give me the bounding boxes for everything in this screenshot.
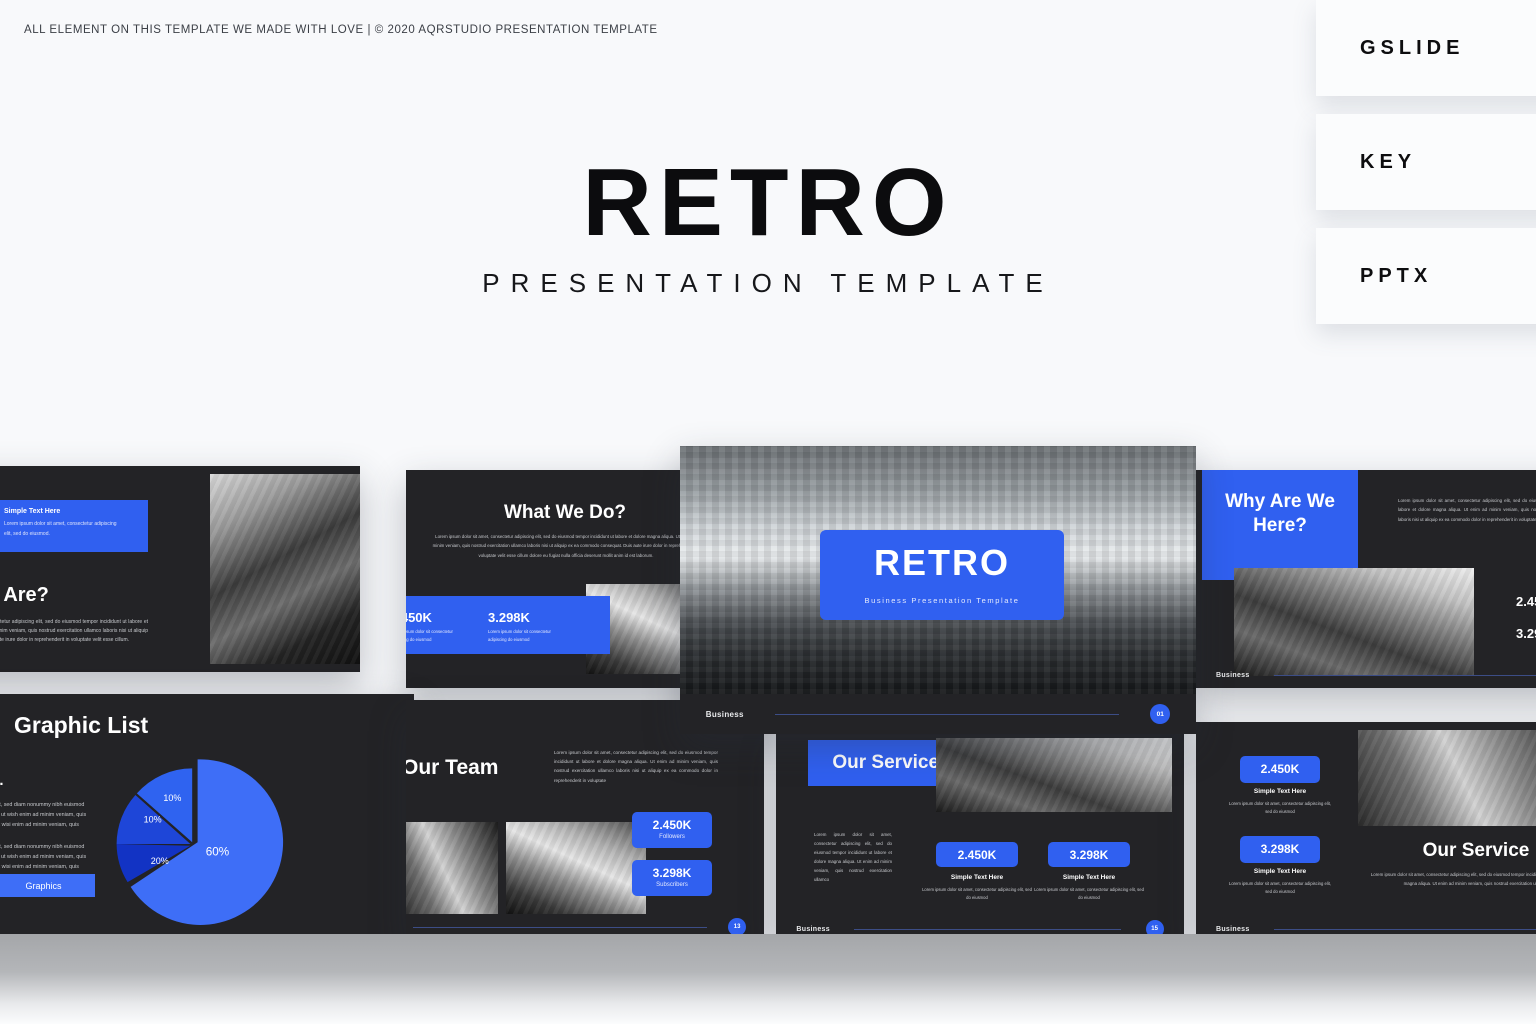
stat-label: Subscribers [632,882,712,888]
legend-button-graphics[interactable]: Graphics [0,874,95,897]
footer-rule [775,714,1120,715]
slide-image [210,474,360,664]
stat-value: 3.298K [488,610,530,625]
pie-label-60: 60% [206,846,229,859]
slide-our-services[interactable]: Our Services Lorem ipsum dolor sit amet,… [776,730,1184,942]
footer-rule [1274,929,1536,930]
slide-footer: Business 01 [680,694,1196,734]
stat-body: Lorem ipsum dolor sit amet, consectetur … [1034,886,1144,902]
slide-our-team[interactable]: Our Team Lorem ipsum dolor sit amet, con… [406,700,764,940]
stat-body: Lorem ipsum dolor sit consectetur adipis… [406,628,472,644]
page-subtitle: PRESENTATION TEMPLATE [0,268,1536,299]
slide-why-are-we-here[interactable]: Why Are We Here? Lorem ipsum dolor sit a… [1196,470,1536,688]
slide-heading: Graphic List [14,712,148,739]
page-title: RETRO [0,155,1536,251]
slide-who-we-are[interactable]: 2.450K Simple Text Here Lorem ipsum dolo… [0,466,360,672]
slide-image [1234,568,1474,676]
slide-image [1358,730,1536,826]
stat-value: 3.298K [632,866,712,880]
stat-label: Followers [632,834,712,840]
stat-body: Lorem ipsum dolor sit amet, consectetur … [922,886,1032,902]
footer-rule [854,929,1121,930]
footer-rule [1274,675,1536,676]
stat-value: 2.450K [632,818,712,832]
stat-value: 2.450K [1516,594,1536,609]
slide-heading: Our Team [406,756,498,780]
slide-heading: Why Are We Here? [1214,490,1346,538]
slide-body: Lorem ipsum dolor sit amet, consectetur … [814,830,892,884]
cover-subtitle: Business Presentation Template [820,596,1064,605]
legend-button-label: Graphics [25,881,61,891]
slide-body-1: Lorem ipsum dolor sit amet, consectetuer… [0,800,96,840]
footer-label: Business [1216,672,1250,679]
slide-footer: Business [1196,662,1536,688]
format-badge-label: GSLIDE [1316,37,1464,60]
stat-value: 3.298K [1048,848,1130,862]
footer-label: Business [706,710,744,719]
footer-rule [413,927,706,928]
slide-body: Lorem ipsum dolor sit amet, consectetur … [430,532,702,560]
stats-band [406,596,610,654]
cover-title: RETRO [820,542,1064,584]
pie-label-10b: 10% [163,793,181,803]
slide-heading: What We Do? [406,502,724,524]
pie-label-10a: 10% [144,814,162,824]
slide-heading: Who We Are? [0,584,49,607]
slide-image [936,738,1172,812]
stat-card-title: Simple Text Here [4,508,60,515]
slide-cover[interactable]: RETRO Business Presentation Template Bus… [680,446,1196,734]
slide-body: Lorem ipsum dolor sit amet, consectetur … [1368,870,1536,888]
stat-title: Simple Text Here [926,874,1028,881]
format-badge-gslide[interactable]: GSLIDE [1316,0,1536,96]
slide-subheading: Teamworks. [0,772,4,789]
slide-image [406,822,498,914]
stat-value: 3.298K [1516,626,1536,641]
footer-label: Business [1216,926,1250,933]
stat-card-body: Lorem ipsum dolor sit amet, consectetur … [4,520,124,539]
stat-body: Lorem ipsum dolor sit amet, consectetur … [1226,800,1334,816]
stat-title: Simple Text Here [1230,788,1330,795]
stat-title: Simple Text Here [1230,868,1330,875]
credit-line: ALL ELEMENT ON THIS TEMPLATE WE MADE WIT… [24,24,658,36]
page-badge: 01 [1150,704,1170,724]
pie-chart: 60% 20% 10% 10% [104,754,284,934]
stat-value: 2.450K [1240,762,1320,776]
stat-body: Lorem ipsum dolor sit amet, consectetur … [1226,880,1334,896]
footer-label: Business [796,926,830,933]
slide-graphic-list[interactable]: Graphic List Teamworks. Lorem ipsum dolo… [0,694,414,962]
slide-body: Lorem ipsum dolor sit amet, consectetur … [554,748,718,785]
stat-value: 2.450K [406,610,432,625]
pie-label-20: 20% [151,856,169,866]
slide-our-service[interactable]: 2.450K Simple Text Here Lorem ipsum dolo… [1196,722,1536,942]
slide-what-we-do[interactable]: What We Do? Lorem ipsum dolor sit amet, … [406,470,724,688]
stat-value: 3.298K [1240,842,1320,856]
stat-title: Simple Text Here [1038,874,1140,881]
slide-image [506,822,646,914]
stat-body: Lorem ipsum dolor sit consectetur adipis… [488,628,570,644]
slide-body: Lorem ipsum dolor sit amet, consectetur … [1398,496,1536,524]
slide-heading: Our Service [1358,840,1536,862]
slide-body: Lorem ipsum dolor sit amet, consectetur … [0,618,148,644]
stat-value: 2.450K [936,848,1018,862]
ground-shadow [0,934,1536,1024]
